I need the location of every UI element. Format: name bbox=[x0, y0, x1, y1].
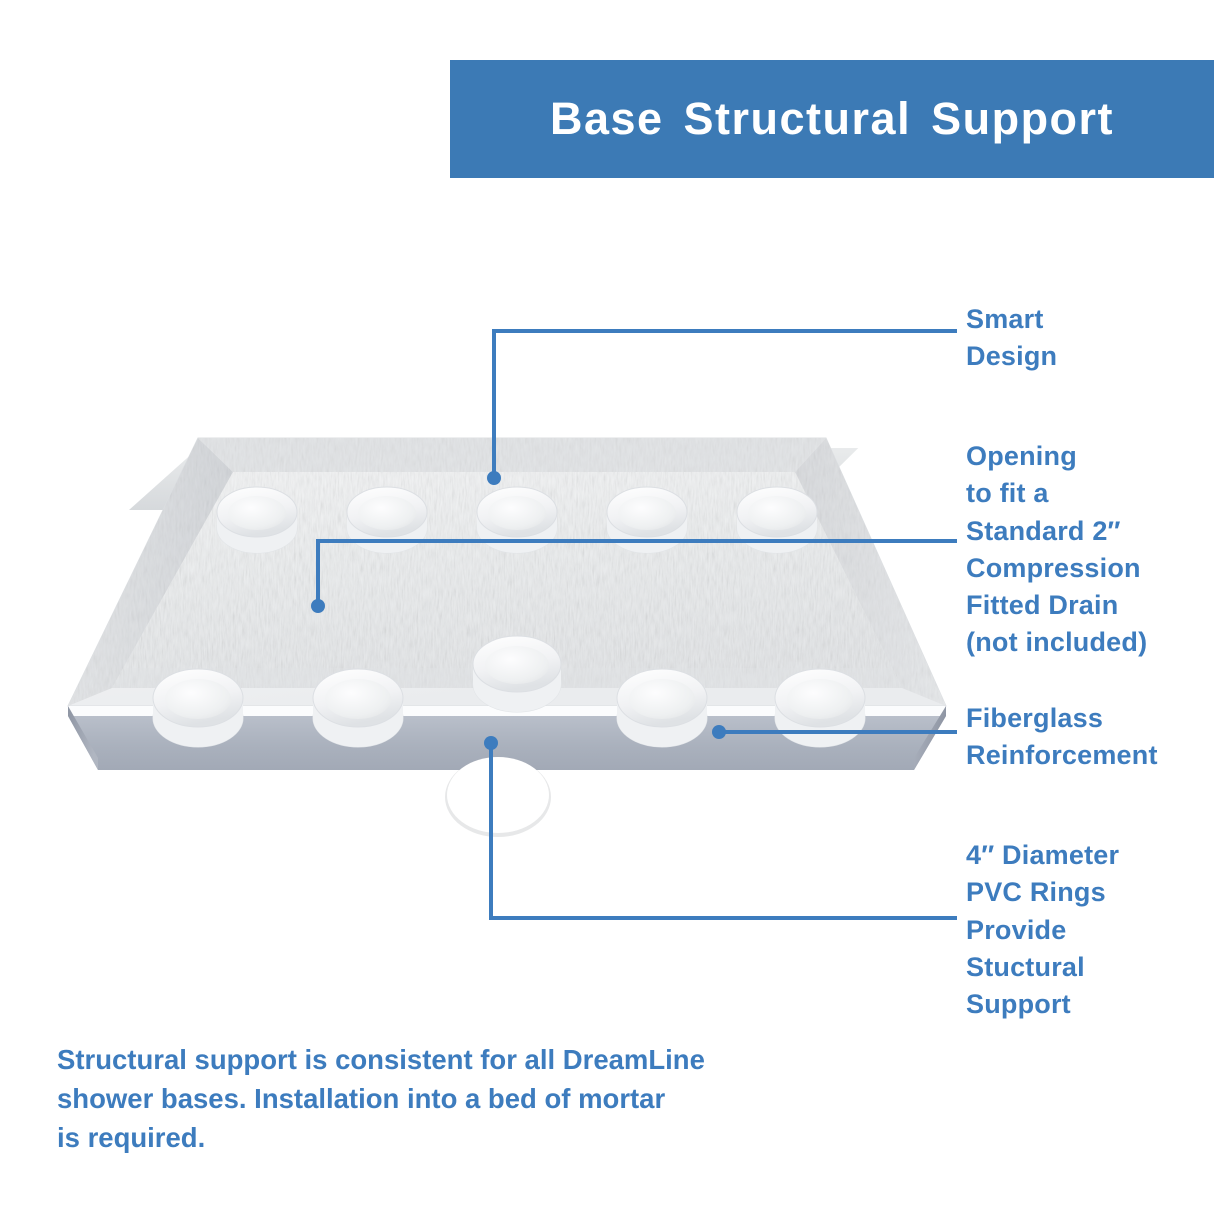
bottom-caption: Structural support is consistent for all… bbox=[57, 1040, 817, 1157]
callout-label-smart-design: Smart Design bbox=[966, 301, 1214, 376]
rim-bevel-back bbox=[198, 438, 826, 472]
pvc-ring bbox=[607, 487, 687, 553]
pvc-ring bbox=[153, 669, 243, 747]
infographic-page: Base Structural Support bbox=[0, 0, 1214, 1214]
callout-label-fiberglass: Fiberglass Reinforcement bbox=[966, 700, 1214, 775]
pvc-ring bbox=[477, 487, 557, 553]
callout-label-opening-drain: Opening to fit a Standard 2″ Compression… bbox=[966, 438, 1214, 662]
callout-label-pvc-rings: 4″ Diameter PVC Rings Provide Stuctural … bbox=[966, 837, 1214, 1023]
header-banner: Base Structural Support bbox=[450, 60, 1214, 178]
shower-base-illustration bbox=[30, 400, 950, 860]
drain-opening bbox=[445, 757, 551, 837]
pvc-ring bbox=[617, 669, 707, 747]
pvc-ring bbox=[313, 669, 403, 747]
pvc-ring bbox=[737, 487, 817, 553]
page-title: Base Structural Support bbox=[550, 93, 1114, 145]
pvc-ring bbox=[473, 636, 561, 712]
pvc-ring bbox=[775, 669, 865, 747]
pvc-ring bbox=[217, 487, 297, 553]
pvc-ring bbox=[347, 487, 427, 553]
